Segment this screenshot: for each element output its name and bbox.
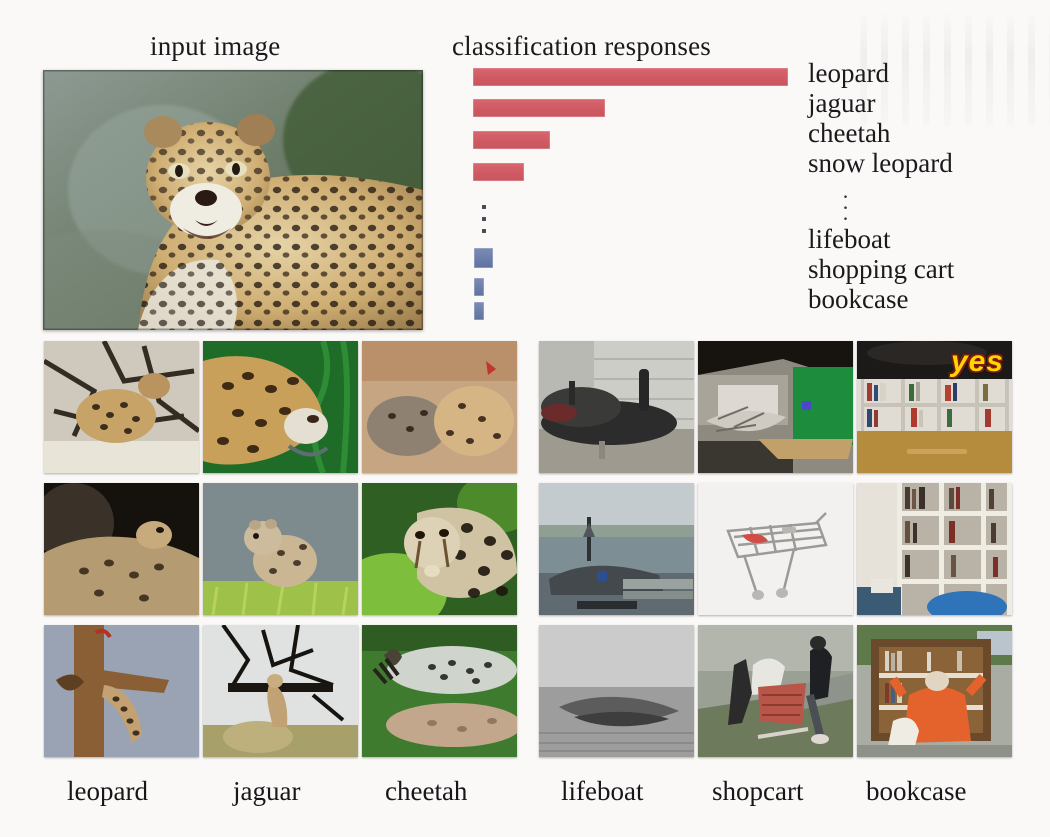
class-label-leopard: leopard [808, 58, 1048, 88]
input-image-photo [43, 70, 423, 330]
bar-shopping-cart [474, 278, 484, 296]
bottom-label-cheetah: cheetah [385, 776, 467, 807]
class-label-jaguar: jaguar [808, 88, 1048, 118]
left-image-grid [44, 341, 517, 757]
people-carrying-shopping-cart-image [698, 625, 853, 757]
figure-root: input image classification responses [0, 0, 1050, 837]
grey-boat-wreck-on-water-image [539, 625, 694, 757]
overturned-shopping-cart-image [698, 483, 853, 615]
naval-ship-in-harbour-image [539, 483, 694, 615]
bar-lifeboat [474, 248, 493, 268]
grid-cell-lifeboat-3 [539, 625, 694, 757]
grid-cell-bookcase-moving [857, 625, 1012, 757]
page-title-input-image: input image [150, 31, 280, 62]
class-label-shopping-cart: shopping cart [808, 254, 1048, 284]
bar-bookcase [474, 302, 484, 320]
cheetah-by-bare-tree-image [203, 625, 358, 757]
class-label-lifeboat: lifeboat [808, 224, 1048, 254]
grid-cell-jaguar-1 [203, 341, 358, 473]
cheetah-face-closeup-image [362, 483, 517, 615]
class-label-list: leopard jaguar cheetah snow leopard ... … [808, 58, 1048, 314]
grid-cell-leopard-hanging [44, 625, 199, 757]
leopard-in-tree-image [44, 341, 199, 473]
classification-response-bars [473, 60, 803, 330]
grid-cell-cheetah-tree [203, 625, 358, 757]
leopard-photo-illustration [43, 70, 423, 330]
bar-snow-leopard [473, 163, 524, 181]
bars-ellipsis-icon [481, 205, 487, 233]
grid-cell-cheetah-cub [203, 483, 358, 615]
class-label-snow-leopard: snow leopard [808, 148, 1048, 178]
class-label-bookcase: bookcase [808, 284, 1048, 314]
bottom-label-shopcart: shopcart [712, 776, 803, 807]
grid-cell-cheetah-face [362, 483, 517, 615]
bar-jaguar [473, 99, 605, 117]
grid-cell-lifeboat-2 [539, 483, 694, 615]
grid-cell-shopcart-overturned [698, 483, 853, 615]
bar-leopard [473, 68, 788, 86]
jaguar-closeup-image [203, 341, 358, 473]
bottom-label-leopard: leopard [67, 776, 148, 807]
bottom-label-bookcase: bookcase [866, 776, 966, 807]
bottom-label-jaguar: jaguar [233, 776, 300, 807]
wrecked-boat-near-container-image [698, 341, 853, 473]
grid-cell-leopard-1 [44, 341, 199, 473]
grid-cell-lifeboat-1 [539, 341, 694, 473]
class-label-cheetah: cheetah [808, 118, 1048, 148]
cheetahs-lying-on-grass-image [362, 625, 517, 757]
class-label-ellipsis-icon: ... [808, 185, 883, 218]
people-moving-bookcase-image [857, 625, 1012, 757]
grid-cell-bookcase-yes: yes [857, 341, 1012, 473]
bar-cheetah [473, 131, 550, 149]
grid-cell-shopcart-carried [698, 625, 853, 757]
leopards-on-rock-image [44, 483, 199, 615]
grid-cell-cheetah-1 [362, 341, 517, 473]
grid-cell-cheetah-grass [362, 625, 517, 757]
grid-cell-bookcase-shelves [857, 483, 1012, 615]
grid-cell-shopcart-wreck [698, 341, 853, 473]
leopard-on-tree-trunk-image [44, 625, 199, 757]
bottom-label-lifeboat: lifeboat [561, 776, 643, 807]
yes-overlay-label: yes [951, 345, 1004, 379]
page-title-classification-responses: classification responses [452, 31, 711, 62]
grid-cell-leopard-2 [44, 483, 199, 615]
boat-on-trailer-image [539, 341, 694, 473]
cheetah-cub-in-grass-image [203, 483, 358, 615]
cheetahs-on-sand-image [362, 341, 517, 473]
tall-white-bookshelves-image [857, 483, 1012, 615]
right-image-grid: yes [539, 341, 1012, 757]
